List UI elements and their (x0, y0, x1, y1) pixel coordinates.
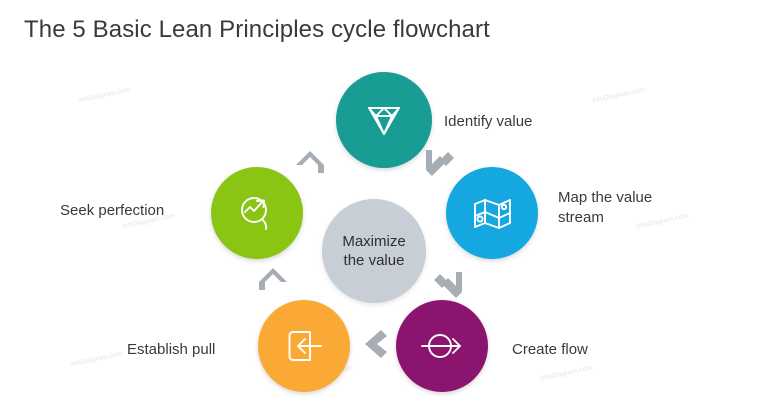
node-seek-perfection[interactable] (211, 167, 303, 259)
center-hub-label: Maximize the value (342, 232, 405, 270)
label-identify-value: Identify value (444, 112, 532, 132)
arrow-map-to-create (426, 262, 470, 306)
arrow-create-to-pull (351, 322, 395, 366)
magnifier-growth-icon (232, 188, 282, 238)
flow-arrow-icon (416, 320, 468, 372)
node-establish-pull[interactable] (258, 300, 350, 392)
label-create-flow: Create flow (512, 340, 588, 360)
pull-arrow-icon (279, 321, 329, 371)
label-map-the-value-stream: Map the value stream (558, 188, 652, 228)
arrow-pull-to-seek (251, 254, 295, 298)
map-icon (467, 188, 517, 238)
node-identify-value[interactable] (336, 72, 432, 168)
slide-canvas: The 5 Basic Lean Principles cycle flowch… (0, 0, 768, 408)
label-seek-perfection: Seek perfection (60, 201, 164, 221)
lean-principles-cycle-diagram: Maximize the value Identify value Map th… (0, 0, 768, 408)
arrow-seek-to-identify (288, 139, 332, 183)
node-map-the-value-stream[interactable] (446, 167, 538, 259)
node-create-flow[interactable] (396, 300, 488, 392)
diamond-icon (358, 94, 410, 146)
arrow-identify-to-map (418, 140, 462, 184)
center-hub: Maximize the value (322, 199, 426, 303)
label-establish-pull: Establish pull (127, 340, 215, 360)
